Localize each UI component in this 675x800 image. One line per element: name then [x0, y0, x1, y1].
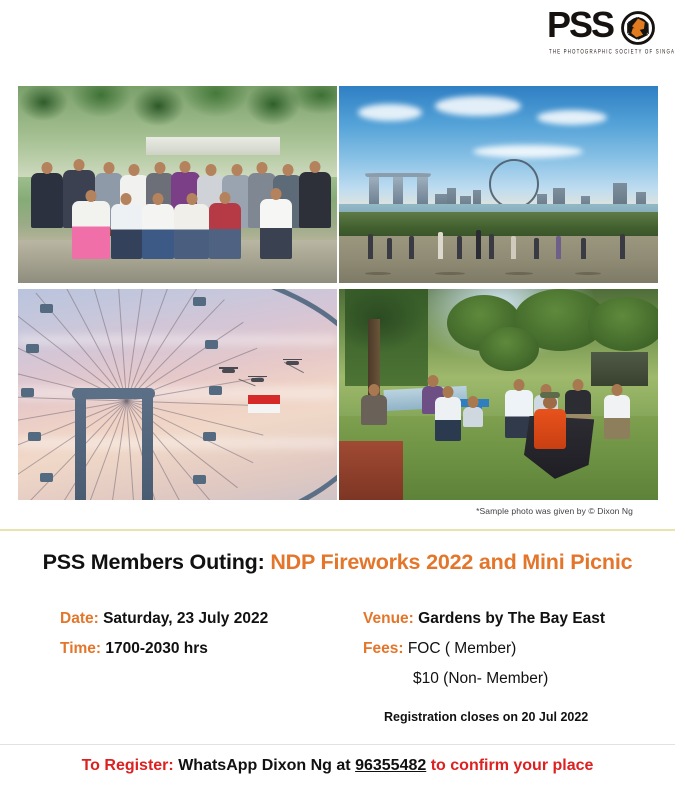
flyer-capsule	[40, 473, 53, 482]
flyer-capsule	[26, 344, 39, 353]
singapore-flyer-sunset-photo	[18, 289, 337, 500]
flyer-capsule	[193, 297, 206, 306]
person	[604, 395, 630, 439]
flyer-leg	[142, 390, 153, 500]
visitor	[534, 238, 539, 260]
flyer-capsule	[209, 386, 222, 395]
register-cta: To Register: WhatsApp Dixon Ng at 963554…	[0, 757, 675, 775]
details-left-column: Date: Saturday, 23 July 2022 Time: 1700-…	[60, 604, 360, 664]
cloud	[435, 96, 521, 116]
divider-grey	[0, 744, 675, 745]
visitor	[556, 236, 561, 260]
registration-note: Registration closes on 20 Jul 2022	[363, 710, 588, 724]
details-right-column: Venue: Gardens by The Bay East Fees: FOC…	[363, 604, 663, 694]
flyer-capsule	[28, 432, 41, 441]
person	[435, 397, 461, 441]
group-portrait-photo	[18, 86, 337, 283]
cta-lead: To Register:	[82, 757, 174, 774]
detail-row-venue: Venue: Gardens by The Bay East	[363, 604, 663, 634]
front-row-people	[18, 181, 337, 260]
marina-bay-skyline-photo	[339, 86, 658, 283]
flyer-capsule	[205, 340, 218, 349]
date-value: Saturday, 23 July 2022	[103, 610, 268, 627]
flyer-capsule	[40, 304, 53, 313]
helicopter-icon	[222, 369, 235, 373]
parked-van	[591, 352, 648, 386]
singapore-flyer-icon	[489, 159, 539, 209]
visitor	[457, 236, 462, 260]
logo-wordmark: PSS	[547, 6, 613, 44]
event-details: Date: Saturday, 23 July 2022 Time: 1700-…	[0, 600, 675, 735]
visitor	[438, 232, 443, 260]
visitor	[387, 238, 392, 260]
logo-tagline: THE PHOTOGRAPHIC SOCIETY OF SINGAPORE	[549, 48, 675, 55]
cta-middle: WhatsApp Dixon Ng at	[178, 757, 350, 774]
helicopter-icon	[251, 378, 264, 382]
flyer-capsule	[203, 432, 216, 441]
venue-value: Gardens by The Bay East	[418, 610, 605, 627]
visitor	[476, 230, 481, 260]
logo-mark: PSS	[539, 8, 659, 46]
detail-row-time: Time: 1700-2030 hrs	[60, 634, 360, 664]
flyer-capsule	[193, 475, 206, 484]
visitor	[368, 234, 373, 260]
tree	[479, 327, 539, 371]
time-value: 1700-2030 hrs	[105, 640, 208, 657]
fees-label: Fees:	[363, 640, 404, 657]
person	[361, 395, 387, 425]
cloud	[358, 104, 422, 121]
fees-member-value: FOC ( Member)	[408, 640, 517, 657]
title-prefix: PSS Members Outing:	[43, 550, 265, 574]
visitor	[409, 236, 414, 260]
large-tree	[345, 289, 428, 386]
flyer-spokes	[18, 289, 337, 500]
person-orange-shirt	[534, 409, 566, 449]
visitor	[511, 236, 516, 260]
visitor	[581, 238, 586, 260]
visitor	[620, 234, 625, 260]
venue-label: Venue:	[363, 610, 414, 627]
cta-tail: to confirm your place	[431, 757, 594, 774]
date-label: Date:	[60, 610, 99, 627]
page-header: PSS THE PHOTOGRAPHIC SOCIETY OF SIN	[0, 0, 675, 72]
camera-aperture-icon	[621, 11, 655, 45]
title-highlight: NDP Fireworks 2022 and Mini Picnic	[270, 550, 632, 574]
photo-grid	[18, 86, 658, 500]
photo-credit: *Sample photo was given by © Dixon Ng	[476, 506, 633, 516]
flyer-leg	[75, 390, 86, 500]
tree	[588, 297, 658, 351]
flyer-capsule	[21, 388, 34, 397]
visitor	[489, 234, 494, 260]
fees-nonmember-value: $10 (Non- Member)	[413, 670, 548, 687]
page-title: PSS Members Outing: NDP Fireworks 2022 a…	[0, 550, 675, 575]
detail-row-fees: Fees: FOC ( Member)	[363, 634, 663, 664]
detail-row-date: Date: Saturday, 23 July 2022	[60, 604, 360, 634]
whatsapp-phone-number[interactable]: 96355482	[355, 757, 426, 774]
divider-gold	[0, 529, 675, 531]
hedge-row	[339, 212, 658, 238]
detail-row-fees-nonmember: $10 (Non- Member)	[363, 664, 663, 694]
marina-bay-sands-icon	[368, 173, 429, 205]
pss-logo: PSS THE PHOTOGRAPHIC SOCIETY OF SIN	[539, 8, 659, 64]
time-label: Time:	[60, 640, 101, 657]
red-bench	[339, 441, 403, 500]
cloud	[537, 110, 607, 125]
picnic-park-photo	[339, 289, 658, 500]
singapore-flag-icon	[248, 395, 280, 413]
child	[463, 407, 483, 427]
cloud	[473, 145, 583, 158]
